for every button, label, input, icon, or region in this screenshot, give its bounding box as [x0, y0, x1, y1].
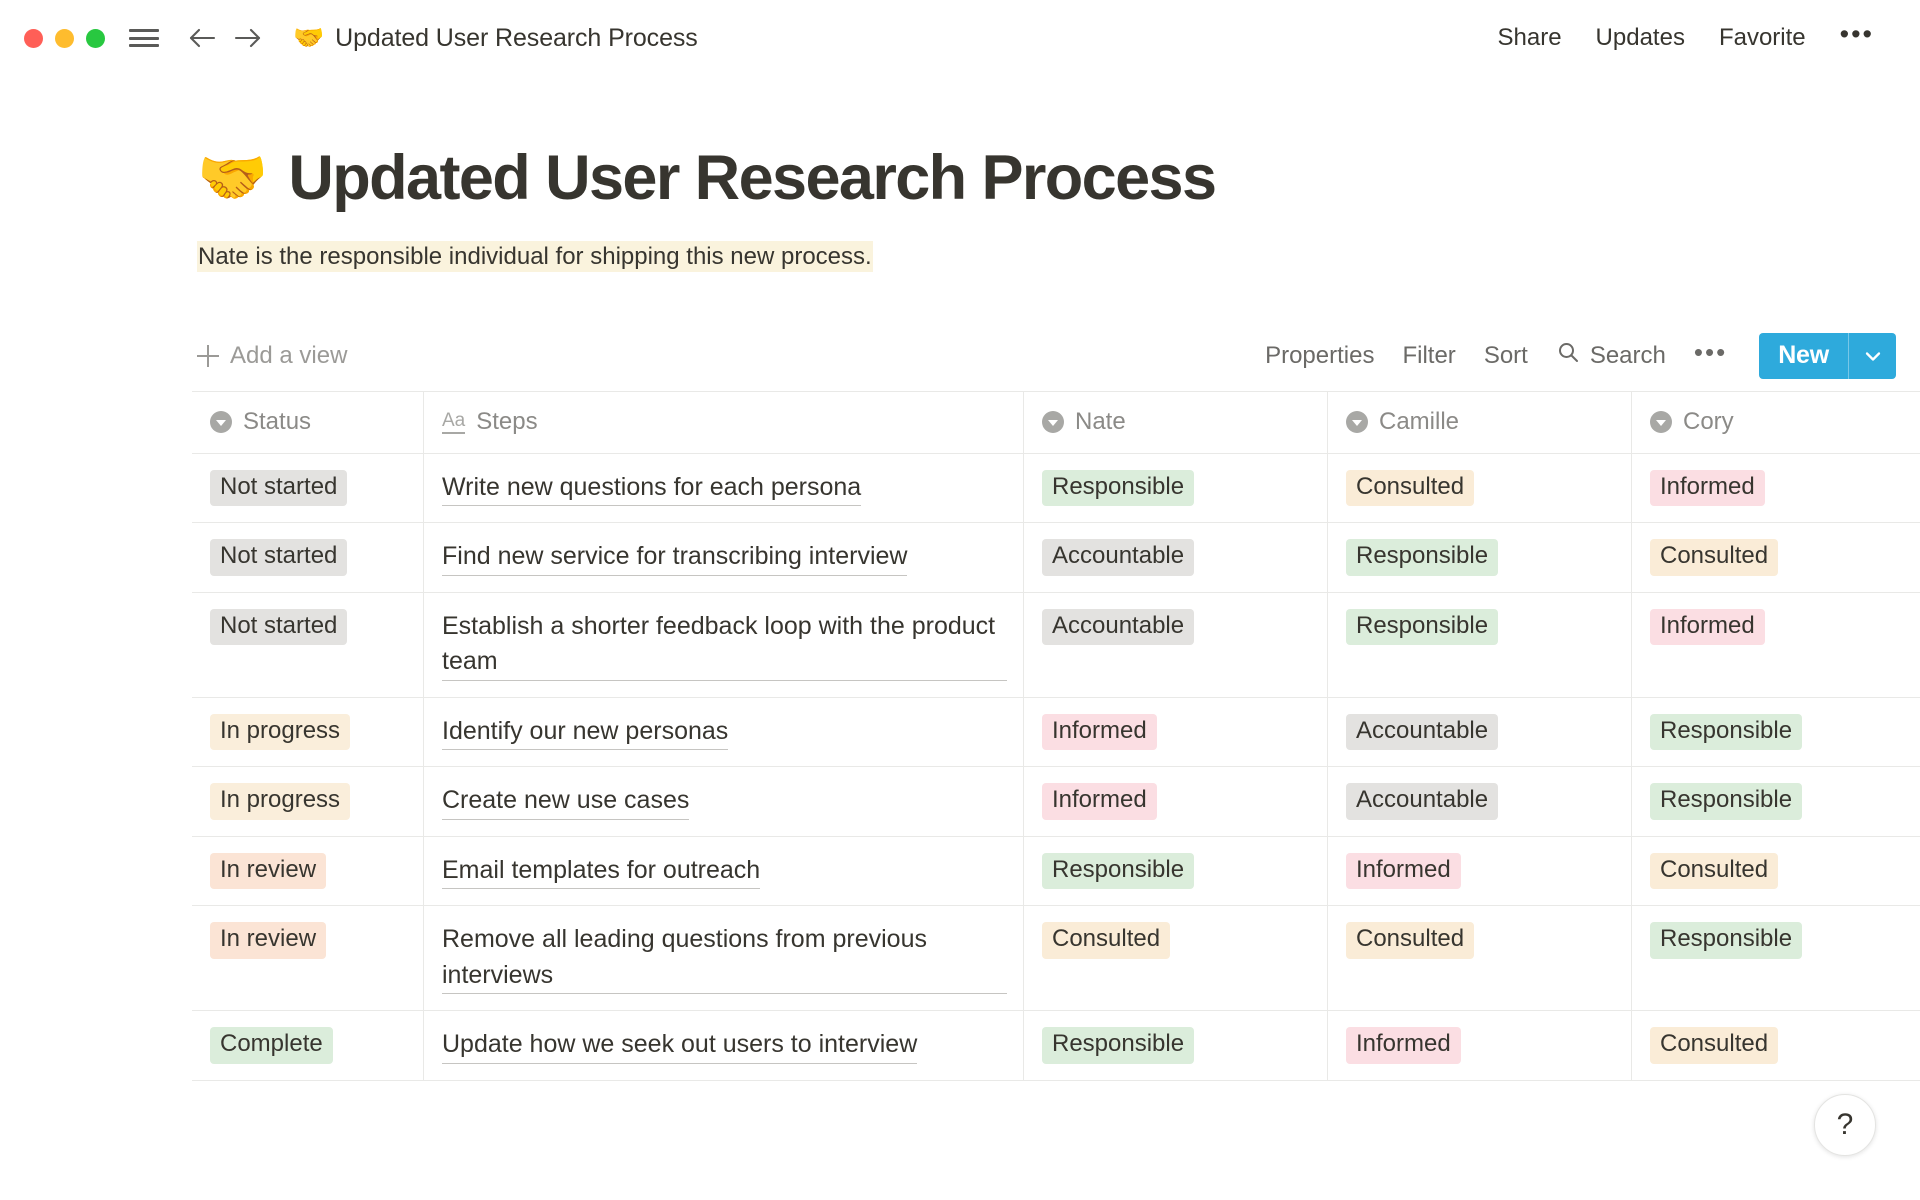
status-badge: In review	[210, 853, 326, 889]
raci-badge: Consulted	[1346, 922, 1474, 958]
titlebar-actions: Share Updates Favorite •••	[1498, 24, 1875, 52]
back-arrow-icon[interactable]	[185, 21, 219, 55]
cell-status[interactable]: Not started	[192, 454, 424, 523]
new-button[interactable]: New	[1759, 333, 1848, 379]
page-title: 🤝 Updated User Research Process	[197, 144, 1920, 212]
column-header-steps[interactable]: Aa Steps	[424, 392, 1024, 453]
raci-badge: Informed	[1346, 853, 1461, 889]
plus-icon	[197, 345, 219, 367]
cell-status[interactable]: In review	[192, 837, 424, 906]
cell-steps[interactable]: Email templates for outreach	[424, 837, 1024, 906]
cell-steps[interactable]: Update how we seek out users to intervie…	[424, 1011, 1024, 1080]
page-handshake-icon: 🤝	[197, 150, 266, 207]
cell-camille[interactable]: Responsible	[1328, 593, 1632, 697]
step-title-link[interactable]: Find new service for transcribing interv…	[442, 539, 907, 576]
breadcrumb[interactable]: 🤝 Updated User Research Process	[293, 24, 698, 53]
cell-camille[interactable]: Responsible	[1328, 523, 1632, 592]
page-header: 🤝 Updated User Research Process Nate is …	[0, 76, 1920, 277]
close-window-button[interactable]	[24, 29, 43, 48]
select-icon	[1650, 411, 1672, 433]
cell-cory[interactable]: Informed	[1632, 593, 1920, 697]
step-title-link[interactable]: Establish a shorter feedback loop with t…	[442, 609, 1007, 681]
filter-button[interactable]: Filter	[1402, 342, 1455, 370]
status-badge: Complete	[210, 1027, 333, 1063]
select-icon	[1346, 411, 1368, 433]
status-badge: In progress	[210, 783, 350, 819]
raci-badge: Responsible	[1042, 1027, 1194, 1063]
cell-cory[interactable]: Consulted	[1632, 1011, 1920, 1080]
step-title-link[interactable]: Email templates for outreach	[442, 853, 760, 890]
table-row[interactable]: Not startedFind new service for transcri…	[192, 523, 1920, 593]
cell-nate[interactable]: Responsible	[1024, 837, 1328, 906]
table-row[interactable]: Not startedEstablish a shorter feedback …	[192, 593, 1920, 698]
column-header-cory[interactable]: Cory	[1632, 392, 1920, 453]
cell-steps[interactable]: Write new questions for each persona	[424, 454, 1024, 523]
column-header-status[interactable]: Status	[192, 392, 424, 453]
cell-steps[interactable]: Establish a shorter feedback loop with t…	[424, 593, 1024, 697]
traffic-lights	[24, 29, 105, 48]
step-title-link[interactable]: Remove all leading questions from previo…	[442, 922, 1007, 994]
page-title-text: Updated User Research Process	[288, 144, 1215, 212]
add-a-view-label: Add a view	[230, 342, 347, 370]
raci-badge: Accountable	[1042, 539, 1194, 575]
cell-camille[interactable]: Accountable	[1328, 767, 1632, 836]
status-badge: In progress	[210, 714, 350, 750]
cell-nate[interactable]: Accountable	[1024, 523, 1328, 592]
sort-button[interactable]: Sort	[1484, 342, 1528, 370]
cell-steps[interactable]: Identify our new personas	[424, 698, 1024, 767]
page-subtitle-block: Nate is the responsible individual for s…	[197, 238, 1920, 277]
help-button[interactable]: ?	[1814, 1094, 1876, 1156]
raci-badge: Responsible	[1650, 922, 1802, 958]
cell-camille[interactable]: Informed	[1328, 837, 1632, 906]
table-body: Not startedWrite new questions for each …	[192, 454, 1920, 1081]
page-subtitle: Nate is the responsible individual for s…	[197, 241, 873, 272]
cell-camille[interactable]: Consulted	[1328, 906, 1632, 1010]
search-button[interactable]: Search	[1556, 340, 1666, 371]
cell-steps[interactable]: Find new service for transcribing interv…	[424, 523, 1024, 592]
raci-badge: Consulted	[1650, 1027, 1778, 1063]
database-more-icon[interactable]: •••	[1694, 346, 1727, 366]
table-row[interactable]: In progressCreate new use casesInformedA…	[192, 767, 1920, 837]
raci-badge: Consulted	[1042, 922, 1170, 958]
cell-nate[interactable]: Responsible	[1024, 1011, 1328, 1080]
table-header-row: Status Aa Steps Nate Camille	[192, 392, 1920, 454]
cell-status[interactable]: Not started	[192, 593, 424, 697]
raci-badge: Accountable	[1042, 609, 1194, 645]
raci-badge: Responsible	[1042, 853, 1194, 889]
raci-badge: Consulted	[1650, 853, 1778, 889]
cell-nate[interactable]: Consulted	[1024, 906, 1328, 1010]
table-row[interactable]: Not startedWrite new questions for each …	[192, 454, 1920, 524]
cell-cory[interactable]: Consulted	[1632, 837, 1920, 906]
favorite-button[interactable]: Favorite	[1719, 24, 1806, 52]
add-a-view-button[interactable]: Add a view	[197, 342, 347, 370]
step-title-link[interactable]: Write new questions for each persona	[442, 470, 861, 507]
cell-cory[interactable]: Responsible	[1632, 767, 1920, 836]
database-toolbar-actions: Properties Filter Sort Search ••• New	[1265, 333, 1920, 379]
window-titlebar: 🤝 Updated User Research Process Share Up…	[0, 0, 1920, 76]
column-header-nate[interactable]: Nate	[1024, 392, 1328, 453]
raci-badge: Informed	[1346, 1027, 1461, 1063]
properties-button[interactable]: Properties	[1265, 342, 1374, 370]
cell-cory[interactable]: Responsible	[1632, 906, 1920, 1010]
status-badge: Not started	[210, 539, 347, 575]
page-content: 🤝 Updated User Research Process Nate is …	[0, 76, 1920, 1081]
cell-status[interactable]: In review	[192, 906, 424, 1010]
cell-nate[interactable]: Responsible	[1024, 454, 1328, 523]
raci-badge: Consulted	[1650, 539, 1778, 575]
select-icon	[1042, 411, 1064, 433]
updates-button[interactable]: Updates	[1596, 24, 1685, 52]
table-row[interactable]: In progressIdentify our new personasInfo…	[192, 698, 1920, 768]
new-button-group: New	[1759, 333, 1896, 379]
raci-badge: Informed	[1042, 783, 1157, 819]
search-icon	[1556, 340, 1580, 371]
title-aa-icon: Aa	[442, 411, 465, 434]
raci-badge: Informed	[1650, 470, 1765, 506]
raci-badge: Responsible	[1650, 783, 1802, 819]
breadcrumb-title: Updated User Research Process	[335, 24, 698, 53]
column-header-label: Cory	[1683, 408, 1734, 436]
step-title-link[interactable]: Identify our new personas	[442, 714, 728, 751]
status-badge: Not started	[210, 609, 347, 645]
status-badge: Not started	[210, 470, 347, 506]
cell-nate[interactable]: Informed	[1024, 767, 1328, 836]
cell-status[interactable]: Not started	[192, 523, 424, 592]
table-row[interactable]: In reviewRemove all leading questions fr…	[192, 906, 1920, 1011]
column-header-label: Camille	[1379, 408, 1459, 436]
raci-badge: Informed	[1650, 609, 1765, 645]
raci-badge: Responsible	[1042, 470, 1194, 506]
cell-camille[interactable]: Informed	[1328, 1011, 1632, 1080]
search-label: Search	[1590, 342, 1666, 370]
cell-cory[interactable]: Informed	[1632, 454, 1920, 523]
raci-badge: Consulted	[1346, 470, 1474, 506]
share-button[interactable]: Share	[1498, 24, 1562, 52]
select-icon	[210, 411, 232, 433]
cell-nate[interactable]: Accountable	[1024, 593, 1328, 697]
raci-badge: Accountable	[1346, 783, 1498, 819]
raci-badge: Informed	[1042, 714, 1157, 750]
minimize-window-button[interactable]	[55, 29, 74, 48]
cell-steps[interactable]: Create new use cases	[424, 767, 1024, 836]
raci-badge: Responsible	[1650, 714, 1802, 750]
cell-status[interactable]: Complete	[192, 1011, 424, 1080]
sidebar-toggle-icon[interactable]	[129, 26, 159, 50]
step-title-link[interactable]: Create new use cases	[442, 783, 689, 820]
database-toolbar: Add a view Properties Filter Sort Search…	[0, 329, 1920, 383]
column-header-label: Steps	[476, 408, 537, 436]
forward-arrow-icon[interactable]	[231, 21, 265, 55]
cell-status[interactable]: In progress	[192, 767, 424, 836]
raci-badge: Responsible	[1346, 609, 1498, 645]
cell-cory[interactable]: Responsible	[1632, 698, 1920, 767]
status-badge: In review	[210, 922, 326, 958]
column-header-label: Nate	[1075, 408, 1126, 436]
table-row[interactable]: CompleteUpdate how we seek out users to …	[192, 1011, 1920, 1081]
step-title-link[interactable]: Update how we seek out users to intervie…	[442, 1027, 917, 1064]
maximize-window-button[interactable]	[86, 29, 105, 48]
more-options-icon[interactable]: •••	[1840, 26, 1874, 50]
database-table: Status Aa Steps Nate Camille	[192, 391, 1920, 1081]
cell-camille[interactable]: Accountable	[1328, 698, 1632, 767]
cell-nate[interactable]: Informed	[1024, 698, 1328, 767]
cell-camille[interactable]: Consulted	[1328, 454, 1632, 523]
cell-status[interactable]: In progress	[192, 698, 424, 767]
table-row[interactable]: In reviewEmail templates for outreachRes…	[192, 837, 1920, 907]
column-header-camille[interactable]: Camille	[1328, 392, 1632, 453]
column-header-label: Status	[243, 408, 311, 436]
chevron-down-icon[interactable]	[1848, 333, 1896, 379]
handshake-icon: 🤝	[293, 26, 324, 51]
raci-badge: Responsible	[1346, 539, 1498, 575]
cell-cory[interactable]: Consulted	[1632, 523, 1920, 592]
raci-badge: Accountable	[1346, 714, 1498, 750]
cell-steps[interactable]: Remove all leading questions from previo…	[424, 906, 1024, 1010]
